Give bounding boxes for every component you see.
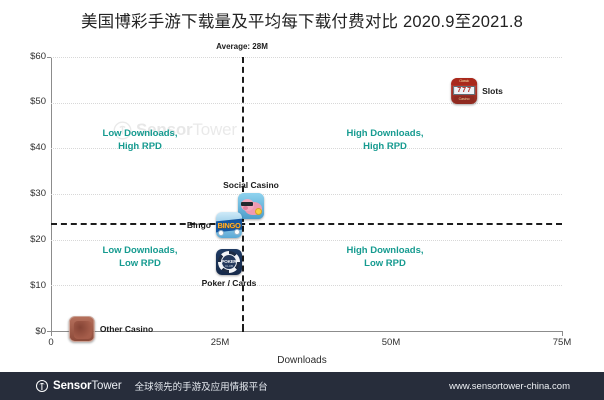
data-point-poker-cards[interactable]: POKER CLUB Poker / Cards xyxy=(216,249,242,275)
other-casino-icon[interactable] xyxy=(69,316,95,342)
quadrant-top-left-line2: High RPD xyxy=(103,141,178,154)
coin-icon xyxy=(255,208,262,215)
slots-icon-bottom-text: Casino xyxy=(454,96,474,102)
footer-logo-text: SensorTower xyxy=(53,380,122,392)
bingo-ball-2 xyxy=(234,229,240,235)
footer-bar: SensorTower 全球领先的手游及应用情报平台 www.sensortow… xyxy=(0,372,604,400)
poker-icon-subtext: CLUB xyxy=(216,264,242,268)
plot-area: SensorTower Low Downloads, High RPD High… xyxy=(51,57,562,331)
poker-cards-icon[interactable]: POKER CLUB xyxy=(216,249,242,275)
footer-tagline: 全球领先的手游及应用情报平台 xyxy=(135,379,268,393)
slots-icon[interactable]: Classic 7 7 7 Casino xyxy=(451,78,477,104)
slots-reel-2: 7 xyxy=(462,86,466,95)
average-line-label: Average: 28M xyxy=(216,42,268,51)
slots-reel-1: 7 xyxy=(457,86,461,95)
chart-title: 美国博彩手游下载量及平均每下载付费对比 2020.9至2021.8 xyxy=(0,8,604,32)
quadrant-bottom-right-line1: High Downloads, xyxy=(346,245,423,258)
footer-logo-bold: Sensor xyxy=(53,380,91,392)
gridline-20 xyxy=(51,240,562,241)
quadrant-bottom-left-line2: Low RPD xyxy=(103,258,178,271)
footer-logo-light: Tower xyxy=(91,380,121,392)
slots-icon-reels: 7 7 7 xyxy=(453,86,475,95)
footer-brand: SensorTower 全球领先的手游及应用情报平台 xyxy=(36,379,268,393)
x-axis-title: Downloads xyxy=(0,355,604,366)
sensortower-logo-icon xyxy=(36,380,48,392)
y-tick-label-40: $40 xyxy=(2,142,46,153)
data-point-bingo[interactable]: BINGO Bingo xyxy=(216,212,242,238)
quadrant-label-top-left: Low Downloads, High RPD xyxy=(103,128,178,154)
watermark-light: Tower xyxy=(192,120,236,139)
quadrant-top-right-line2: High RPD xyxy=(346,141,423,154)
pig-snout xyxy=(243,206,248,210)
data-label-bingo: Bingo xyxy=(187,220,211,230)
bingo-icon[interactable]: BINGO xyxy=(216,212,242,238)
y-tick-label-10: $10 xyxy=(2,280,46,291)
gridline-60 xyxy=(51,57,562,58)
x-tick-mark-75m xyxy=(562,332,563,336)
y-tick-label-60: $60 xyxy=(2,51,46,62)
data-point-slots[interactable]: Classic 7 7 7 Casino Slots xyxy=(451,78,503,104)
slots-icon-top-text: Classic xyxy=(451,78,477,85)
y-tick-label-50: $50 xyxy=(2,96,46,107)
y-tick-label-20: $20 xyxy=(2,234,46,245)
data-label-social-casino: Social Casino xyxy=(223,180,279,190)
other-casino-glyph xyxy=(74,321,92,339)
quadrant-bottom-left-line1: Low Downloads, xyxy=(103,245,178,258)
x-tick-label-75m: 75M xyxy=(542,337,582,348)
data-label-slots: Slots xyxy=(482,86,503,96)
data-label-poker-cards: Poker / Cards xyxy=(202,278,257,288)
gridline-30 xyxy=(51,194,562,195)
quadrant-label-bottom-left: Low Downloads, Low RPD xyxy=(103,245,178,271)
gridline-10 xyxy=(51,285,562,286)
x-tick-mark-0 xyxy=(51,332,52,336)
y-axis-title: Revenue Per Download xyxy=(0,69,1,175)
x-tick-mark-average xyxy=(242,324,244,332)
x-tick-label-50m: 50M xyxy=(371,337,411,348)
y-tick-label-30: $30 xyxy=(2,188,46,199)
data-label-other-casino: Other Casino xyxy=(100,324,153,334)
x-tick-label-0: 0 xyxy=(31,337,71,348)
quadrant-top-right-line1: High Downloads, xyxy=(346,128,423,141)
footer-url[interactable]: www.sensortower-china.com xyxy=(449,381,570,392)
average-horizontal-line xyxy=(51,223,562,225)
quadrant-label-bottom-right: High Downloads, Low RPD xyxy=(346,245,423,271)
x-tick-label-25m: 25M xyxy=(200,337,240,348)
quadrant-top-left-line1: Low Downloads, xyxy=(103,128,178,141)
data-point-other-casino[interactable]: Other Casino xyxy=(69,316,153,342)
slots-reel-3: 7 xyxy=(467,86,471,95)
pig-sunglasses xyxy=(241,202,253,206)
y-tick-label-0: $0 xyxy=(2,326,46,337)
bingo-ball-1 xyxy=(218,230,224,236)
quadrant-bottom-right-line2: Low RPD xyxy=(346,258,423,271)
quadrant-label-top-right: High Downloads, High RPD xyxy=(346,128,423,154)
